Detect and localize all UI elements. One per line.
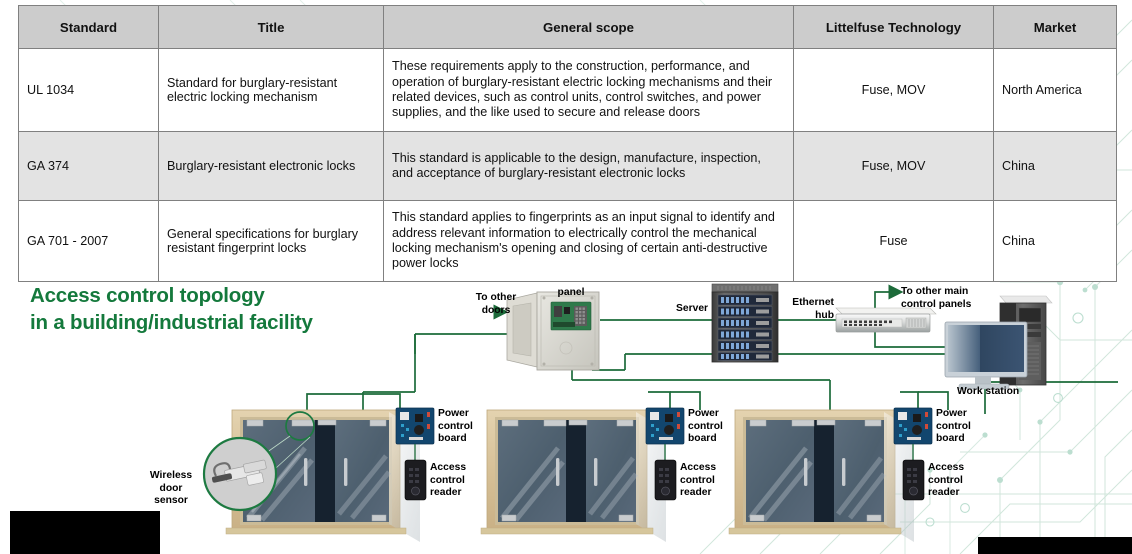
cell-title: Standard for burglary-resistant electric… xyxy=(159,49,384,132)
column-header-scope: General scope xyxy=(384,6,794,49)
cell-scope: These requirements apply to the construc… xyxy=(384,49,794,132)
label-power-control-board-3-line3: board xyxy=(936,433,984,446)
access-control-reader-1 xyxy=(405,460,426,500)
label-access-control-reader-2: Access control reader xyxy=(680,462,732,500)
label-power-control-board-3-line2: control xyxy=(936,421,984,434)
label-wireless-door-sensor: Wireless door sensor xyxy=(138,470,204,508)
cell-technology: Fuse, MOV xyxy=(794,49,994,132)
label-power-control-board-3: Power control board xyxy=(936,408,984,446)
cell-market: North America xyxy=(994,49,1117,132)
label-access-control-reader-3-line2: control xyxy=(928,475,980,488)
power-control-board-3 xyxy=(894,408,932,444)
label-to-other-main-line1: To other main xyxy=(901,286,997,299)
table-row: UL 1034 Standard for burglary-resistant … xyxy=(19,49,1117,132)
label-power-control-board-2-line2: control xyxy=(688,421,736,434)
server-graphic xyxy=(712,284,778,362)
label-access-control-reader-1-line1: Access xyxy=(430,462,482,475)
cell-standard: GA 374 xyxy=(19,132,159,201)
slide-root: Standard Title General scope Littelfuse … xyxy=(0,0,1132,554)
label-power-control-board-1-line2: control xyxy=(438,421,486,434)
label-access-control-reader-2-line1: Access xyxy=(680,462,732,475)
cell-standard: UL 1034 xyxy=(19,49,159,132)
label-access-control-reader-3-line1: Access xyxy=(928,462,980,475)
label-wireless-door-sensor-line1: Wireless xyxy=(138,470,204,483)
access-control-reader-2 xyxy=(655,460,676,500)
label-wireless-door-sensor-line2: door xyxy=(138,483,204,496)
door-assembly-3 xyxy=(729,410,914,542)
label-power-control-board-2-line3: board xyxy=(688,433,736,446)
access-control-reader-3 xyxy=(903,460,924,500)
column-header-standard: Standard xyxy=(19,6,159,49)
redaction-bar-left xyxy=(10,511,160,554)
label-power-control-board-2: Power control board xyxy=(688,408,736,446)
table-header-row: Standard Title General scope Littelfuse … xyxy=(19,6,1117,49)
label-to-other-doors-line1: To other xyxy=(466,292,526,305)
ethernet-hub-graphic xyxy=(836,308,936,332)
label-access-control-reader-1-line3: reader xyxy=(430,487,482,500)
column-header-title: Title xyxy=(159,6,384,49)
redaction-bar-right xyxy=(978,537,1132,554)
label-access-control-reader-3-line3: reader xyxy=(928,487,980,500)
label-work-station: Work station xyxy=(957,386,1019,399)
standards-table-container: Standard Title General scope Littelfuse … xyxy=(18,5,1116,282)
cell-scope: This standard is applicable to the desig… xyxy=(384,132,794,201)
cell-market: China xyxy=(994,201,1117,282)
label-to-other-main-line2: control panels xyxy=(901,299,997,312)
door-assembly-2 xyxy=(481,410,666,542)
cell-market: China xyxy=(994,132,1117,201)
power-control-board-2 xyxy=(646,408,684,444)
label-access-control-reader-2-line3: reader xyxy=(680,487,732,500)
label-power-control-board-3-line1: Power xyxy=(936,408,984,421)
cell-scope: This standard applies to fingerprints as… xyxy=(384,201,794,282)
label-to-other-doors: To other doors xyxy=(466,292,526,317)
access-control-topology-diagram: Access control topology in a building/in… xyxy=(0,262,1132,554)
label-ethernet-hub-line2: hub xyxy=(772,310,834,323)
power-control-board-1 xyxy=(396,408,434,444)
cell-title: Burglary-resistant electronic locks xyxy=(159,132,384,201)
label-power-control-board-1: Power control board xyxy=(438,408,486,446)
column-header-market: Market xyxy=(994,6,1117,49)
cell-title: General specifications for burglary resi… xyxy=(159,201,384,282)
table-row: GA 701 - 2007 General specifications for… xyxy=(19,201,1117,282)
door-assembly-1 xyxy=(204,410,420,542)
label-ethernet-hub-line1: Ethernet xyxy=(772,297,834,310)
label-power-control-board-1-line1: Power xyxy=(438,408,486,421)
label-access-control-reader-1: Access control reader xyxy=(430,462,482,500)
standards-table: Standard Title General scope Littelfuse … xyxy=(18,5,1117,282)
label-control-panel-line2: panel xyxy=(540,287,602,300)
label-ethernet-hub: Ethernet hub xyxy=(772,297,834,322)
label-power-control-board-2-line1: Power xyxy=(688,408,736,421)
label-access-control-reader-2-line2: control xyxy=(680,475,732,488)
label-access-control-reader-3: Access control reader xyxy=(928,462,980,500)
column-header-technology: Littelfuse Technology xyxy=(794,6,994,49)
label-access-control-reader-1-line2: control xyxy=(430,475,482,488)
label-to-other-main-control-panels: To other main control panels xyxy=(901,286,997,311)
table-row: GA 374 Burglary-resistant electronic loc… xyxy=(19,132,1117,201)
label-server: Server xyxy=(676,303,708,316)
label-power-control-board-1-line3: board xyxy=(438,433,486,446)
cell-technology: Fuse xyxy=(794,201,994,282)
label-to-other-doors-line2: doors xyxy=(466,305,526,318)
cell-standard: GA 701 - 2007 xyxy=(19,201,159,282)
label-wireless-door-sensor-line3: sensor xyxy=(138,495,204,508)
cell-technology: Fuse, MOV xyxy=(794,132,994,201)
